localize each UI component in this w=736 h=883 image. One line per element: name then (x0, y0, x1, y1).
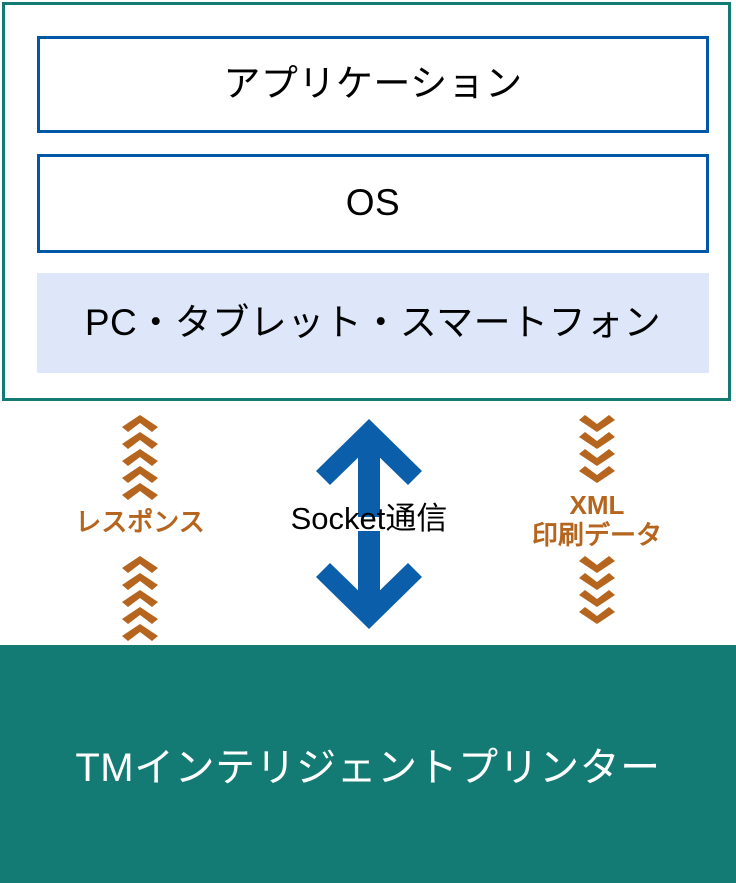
flow-socket-label: Socket通信 (279, 501, 459, 537)
chevron-down-icon (579, 607, 615, 624)
chevron-up-stack-bottom (122, 556, 158, 641)
chevron-up-icon (122, 624, 158, 641)
layer-device-hardware: PC・タブレット・スマートフォン (37, 273, 709, 373)
chevron-up-icon (122, 573, 158, 590)
chevron-down-icon (579, 556, 615, 573)
flow-response-label: レスポンス (60, 508, 220, 538)
printer-name: TMインテリジェントプリンター (75, 735, 660, 793)
chevron-up-icon (122, 607, 158, 624)
chevron-up-icon (122, 556, 158, 573)
flow-xml-label-group: XML 印刷データ (517, 491, 677, 551)
chevron-down-icon (579, 432, 615, 449)
chevron-up-icon (122, 432, 158, 449)
chevron-down-icon (579, 449, 615, 466)
flow-xml-label-line1: XML (517, 491, 677, 521)
chevron-up-icon (122, 415, 158, 432)
chevron-down-icon (579, 466, 615, 483)
printer-banner: TMインテリジェントプリンター (0, 645, 736, 883)
flow-xml-print-data: XML 印刷データ (517, 401, 677, 645)
communication-band: レスポンス (0, 401, 736, 645)
chevron-down-stack-bottom (579, 556, 615, 624)
chevron-down-icon (579, 590, 615, 607)
layer-device-hardware-label: PC・タブレット・スマートフォン (85, 303, 661, 344)
chevron-up-stack-top (122, 415, 158, 500)
host-device-panel: アプリケーション OS PC・タブレット・スマートフォン (2, 2, 731, 401)
flow-response: レスポンス (60, 401, 220, 645)
chevron-down-icon (579, 415, 615, 432)
chevron-up-icon (122, 449, 158, 466)
chevron-up-icon (122, 483, 158, 500)
chevron-up-icon (122, 466, 158, 483)
flow-socket: Socket通信 (279, 401, 459, 645)
layer-os-label: OS (346, 183, 400, 224)
layer-os: OS (37, 154, 709, 253)
chevron-down-icon (579, 573, 615, 590)
chevron-down-stack-top (579, 415, 615, 483)
chevron-up-icon (122, 590, 158, 607)
layer-application-label: アプリケーション (223, 64, 522, 105)
connection-architecture-diagram: アプリケーション OS PC・タブレット・スマートフォン (0, 0, 736, 883)
flow-xml-label-line2: 印刷データ (517, 521, 677, 551)
layer-application: アプリケーション (37, 36, 709, 133)
